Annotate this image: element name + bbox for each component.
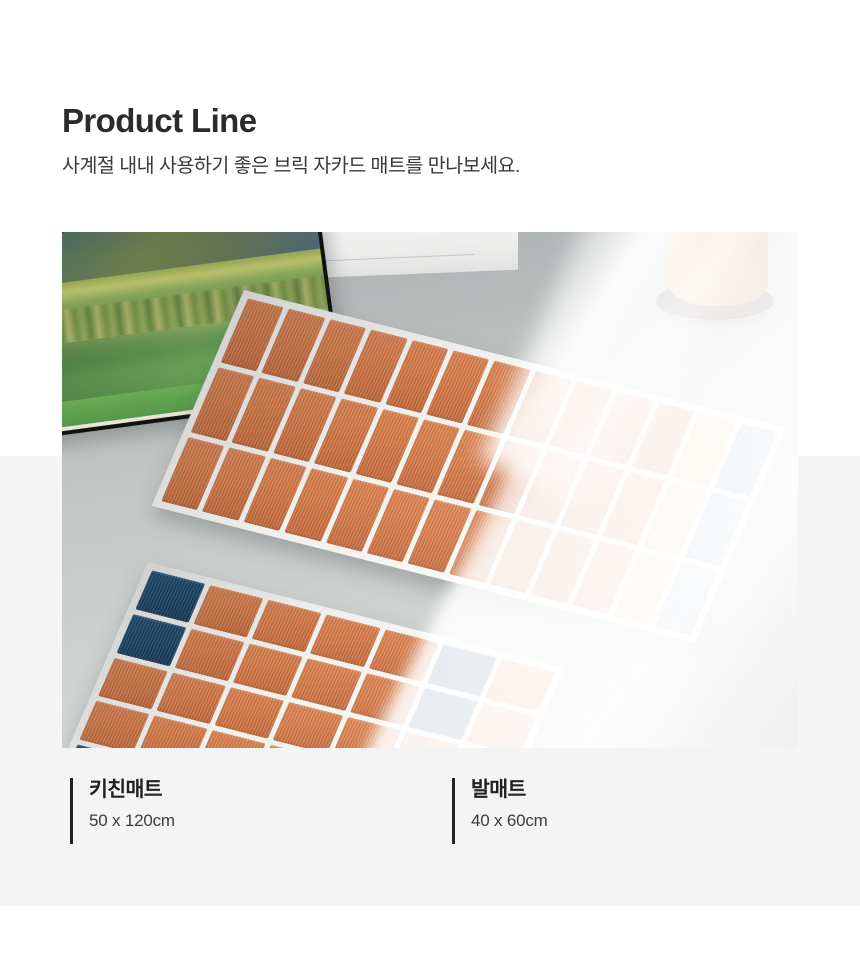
caption-foot-mat: 발매트 40 x 60cm xyxy=(452,778,548,844)
brick-tile xyxy=(156,672,226,724)
brick-tile-accent xyxy=(427,644,497,696)
brick-tile xyxy=(273,702,343,748)
brick-tile xyxy=(485,659,555,711)
caption-foot-mat-name: 발매트 xyxy=(471,778,548,802)
caption-foot-mat-size: 40 x 60cm xyxy=(471,811,548,831)
brick-tile xyxy=(175,629,245,681)
brick-tile xyxy=(98,657,168,709)
brick-tile-accent xyxy=(135,570,205,622)
brick-tile-accent xyxy=(117,614,187,666)
brick-tile xyxy=(252,600,322,652)
brick-tile xyxy=(79,701,149,748)
brick-tile xyxy=(233,643,303,695)
brick-tile xyxy=(369,629,439,681)
brick-tile xyxy=(310,614,380,666)
brick-tile-accent xyxy=(408,688,478,740)
brick-tile xyxy=(292,658,362,710)
product-photo xyxy=(62,232,798,748)
brick-tile xyxy=(466,702,536,748)
brick-tile xyxy=(215,687,285,739)
caption-kitchen-mat-size: 50 x 120cm xyxy=(89,811,175,831)
brick-tile xyxy=(350,673,420,725)
caption-kitchen-mat: 키친매트 50 x 120cm xyxy=(70,778,175,844)
caption-kitchen-mat-name: 키친매트 xyxy=(89,778,175,802)
photo-scene xyxy=(62,232,798,748)
brick-tile xyxy=(194,585,264,637)
page-title: Product Line xyxy=(62,103,520,140)
page-subtitle: 사계절 내내 사용하기 좋은 브릭 자카드 매트를 만나보세요. xyxy=(62,154,520,179)
page-header: Product Line 사계절 내내 사용하기 좋은 브릭 자카드 매트를 만… xyxy=(62,103,520,179)
